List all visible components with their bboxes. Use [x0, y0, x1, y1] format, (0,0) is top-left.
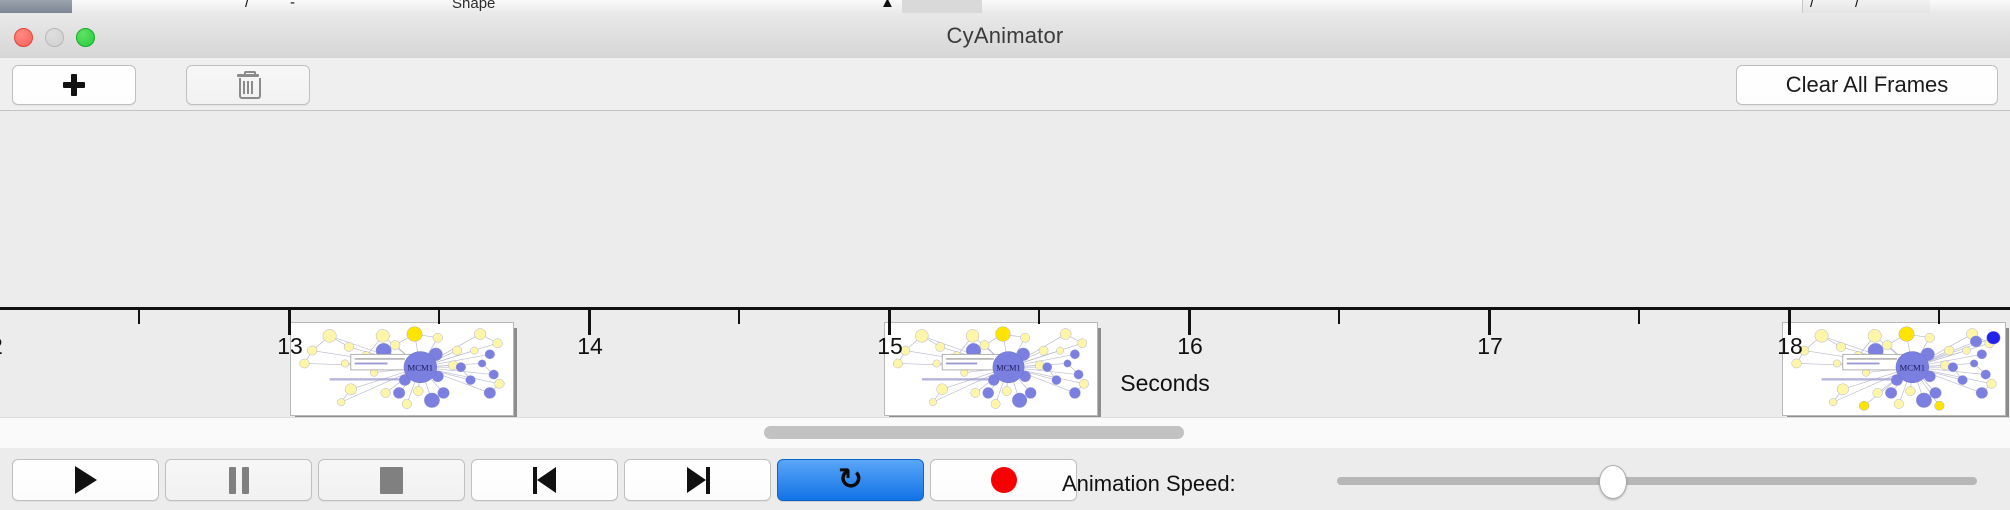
timeline-major-tick [1788, 310, 1791, 335]
plus-icon [62, 73, 86, 97]
play-button[interactable] [12, 459, 159, 501]
timeline-frame[interactable]: MCM1 [1782, 322, 2004, 414]
timeline-axis [0, 307, 2010, 310]
axis-title: Seconds [1120, 370, 1210, 397]
timeline-minor-tick [1038, 310, 1040, 324]
timeline-tick-label: 17 [1477, 333, 1503, 360]
animation-speed-label: Animation Speed: [1062, 471, 1236, 497]
timeline-minor-tick [738, 310, 740, 324]
background-selected-tab [0, 0, 72, 13]
svg-text:MCM1: MCM1 [408, 363, 434, 373]
slider-knob[interactable] [1599, 465, 1627, 499]
svg-text:MCM1: MCM1 [996, 363, 1020, 372]
previous-frame-button[interactable] [471, 459, 618, 501]
window-title: CyAnimator [0, 13, 2010, 58]
record-icon [991, 467, 1017, 493]
timeline-tick-label: 15 [877, 333, 903, 360]
timeline-frame[interactable]: MCM1 [884, 322, 1096, 414]
timeline-tick-label: 18 [1777, 333, 1803, 360]
timeline-tick-label: 13 [277, 333, 303, 360]
timeline-minor-tick [1638, 310, 1640, 324]
background-tab [502, 0, 903, 13]
record-button[interactable] [930, 459, 1077, 501]
timeline-minor-tick [438, 310, 440, 324]
timeline-minor-tick [1938, 310, 1940, 324]
timeline-tick-label: 12 [0, 333, 3, 360]
background-tab [1930, 0, 2010, 13]
timeline-scrollbar[interactable] [0, 417, 2010, 449]
loop-button[interactable]: ↻ [777, 459, 924, 501]
pause-button[interactable] [165, 459, 312, 501]
stop-button[interactable] [318, 459, 465, 501]
background-tab [302, 0, 383, 13]
next-frame-button[interactable] [624, 459, 771, 501]
timeline-minor-tick [1338, 310, 1340, 324]
skip-next-icon [686, 467, 710, 494]
clear-all-frames-label: Clear All Frames [1786, 72, 1949, 98]
background-tab [982, 0, 1803, 13]
timeline-major-tick [888, 310, 891, 335]
background-window-label: Shape [452, 0, 495, 12]
timeline-tick-label: 16 [1177, 333, 1203, 360]
frame-thumbnail[interactable]: MCM1 [1782, 322, 2006, 416]
background-tab [72, 0, 183, 13]
loop-icon: ↻ [838, 465, 863, 495]
background-tab [182, 0, 243, 13]
scrollbar-thumb[interactable] [764, 426, 1184, 439]
toolbar: Clear All Frames [0, 58, 2010, 111]
stop-icon [380, 467, 403, 494]
play-icon [75, 466, 97, 494]
skip-previous-icon [533, 467, 557, 494]
background-tab [902, 0, 983, 13]
background-window-strip: / - Shape ▲ / / [0, 0, 2010, 13]
delete-frame-button[interactable] [186, 65, 310, 105]
timeline-tick-label: 14 [577, 333, 603, 360]
playback-control-bar: ↻ Animation Speed: [0, 448, 2010, 510]
animation-speed-slider[interactable] [1337, 477, 1977, 485]
slider-track[interactable] [1337, 477, 1977, 485]
cyanimator-window: / - Shape ▲ / / CyAnimator Clear All Fra… [0, 0, 2010, 510]
frame-thumbnail[interactable]: MCM1 [884, 322, 1098, 416]
add-frame-button[interactable] [12, 65, 136, 105]
timeline-major-tick [288, 310, 291, 335]
frame-thumbnail[interactable]: MCM1 [290, 322, 514, 416]
timeline-major-tick [1488, 310, 1491, 335]
timeline-frame[interactable]: MCM1 [290, 322, 512, 414]
pause-icon [229, 467, 249, 494]
timeline-major-tick [588, 310, 591, 335]
trash-icon [236, 72, 260, 98]
timeline-panel[interactable]: MCM1 MCM1 MCM1 12131415161718 Seconds [0, 111, 2010, 417]
title-bar: CyAnimator [0, 13, 2010, 59]
timeline-major-tick [1188, 310, 1191, 335]
clear-all-frames-button[interactable]: Clear All Frames [1736, 65, 1998, 105]
svg-text:MCM1: MCM1 [1900, 363, 1926, 373]
timeline-minor-tick [138, 310, 140, 324]
